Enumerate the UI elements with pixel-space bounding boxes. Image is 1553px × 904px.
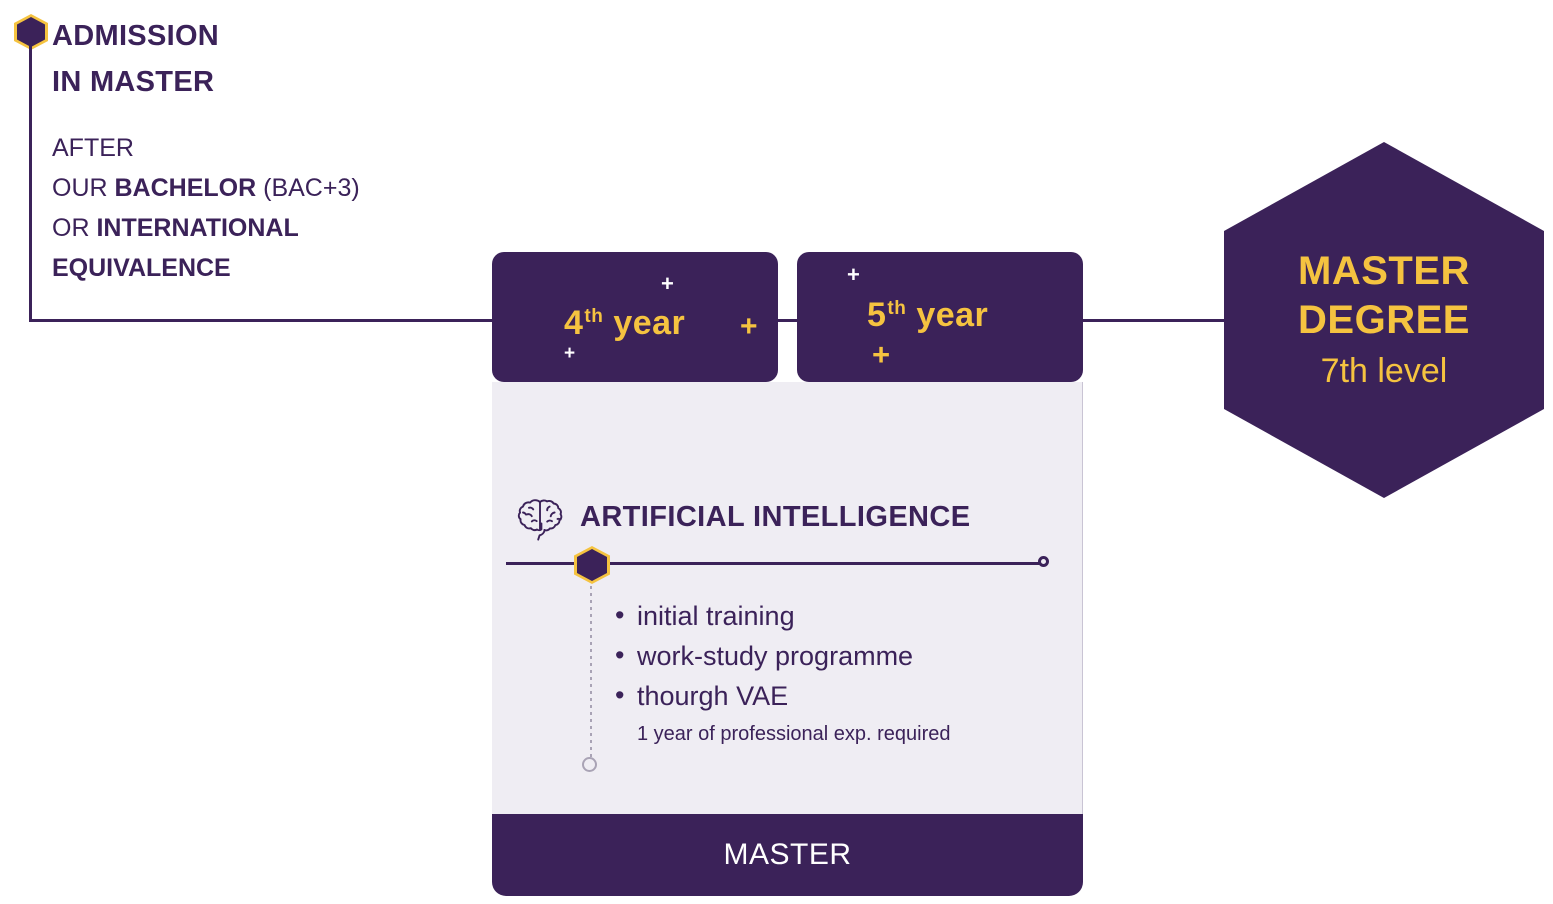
admission-sub-bac3: (BAC+3)	[256, 174, 360, 202]
year-box-4[interactable]: + + + 4th year	[492, 252, 778, 382]
year-5-label: 5th year	[867, 296, 988, 335]
degree-badge: MASTER DEGREE 7th level	[1224, 142, 1544, 498]
track-title: ARTIFICIAL INTELLIGENCE	[580, 501, 971, 534]
circle-outline-icon	[582, 757, 597, 772]
year-box-5[interactable]: + + 5th year	[797, 252, 1083, 382]
list-item: initial training	[615, 597, 1055, 637]
degree-badge-line-2: DEGREE	[1298, 296, 1470, 345]
admission-sub-line-3: OR INTERNATIONAL	[52, 208, 522, 248]
admission-sub-international: INTERNATIONAL	[96, 214, 298, 242]
degree-badge-line-1: MASTER	[1298, 247, 1470, 296]
plus-decoration-icon: +	[564, 344, 575, 363]
admission-sub-line-1: AFTER	[52, 128, 522, 168]
degree-badge-level: 7th level	[1321, 349, 1448, 393]
year-4-number: 4	[564, 304, 583, 342]
year-4-word: year	[613, 304, 685, 342]
plus-decoration-icon: +	[661, 273, 674, 295]
dotted-connector-line	[590, 586, 592, 758]
year-4-ordinal: th	[584, 306, 603, 327]
admission-sub-or: OR	[52, 214, 96, 242]
list-item: work-study programme	[615, 637, 1055, 677]
programme-note: 1 year of professional exp. required	[637, 723, 951, 746]
year-5-number: 5	[867, 296, 886, 334]
admission-subtitle: AFTER OUR BACHELOR (BAC+3) OR INTERNATIO…	[52, 128, 522, 288]
circle-outline-icon	[1038, 556, 1049, 567]
year-5-ordinal: th	[887, 298, 906, 319]
connector-line-vertical	[29, 44, 32, 322]
admission-title-line-2: IN MASTER	[52, 60, 472, 106]
admission-sub-equivalence: EQUIVALENCE	[52, 254, 231, 282]
plus-decoration-icon: +	[740, 312, 758, 342]
admission-sub-our: OUR	[52, 174, 115, 202]
admission-title-line-1: ADMISSION	[52, 14, 472, 60]
admission-title: ADMISSION IN MASTER	[52, 14, 472, 106]
programme-footer-bar: MASTER	[492, 814, 1083, 896]
admission-sub-line-2: OUR BACHELOR (BAC+3)	[52, 168, 522, 208]
admission-sub-line-4: EQUIVALENCE	[52, 248, 522, 288]
degree-badge-title: MASTER DEGREE	[1298, 247, 1470, 345]
diagram-canvas: ADMISSION IN MASTER AFTER OUR BACHELOR (…	[0, 0, 1553, 904]
plus-decoration-icon: +	[872, 339, 890, 370]
list-item: thourgh VAE	[615, 677, 1055, 717]
year-5-word: year	[916, 296, 988, 334]
year-4-label: 4th year	[564, 304, 685, 343]
brain-icon	[516, 497, 568, 541]
plus-decoration-icon: +	[847, 264, 860, 286]
programme-footer-label: MASTER	[723, 838, 851, 872]
admission-sub-bachelor: BACHELOR	[115, 174, 257, 202]
programme-bullet-list: initial training work-study programme th…	[615, 597, 1055, 717]
